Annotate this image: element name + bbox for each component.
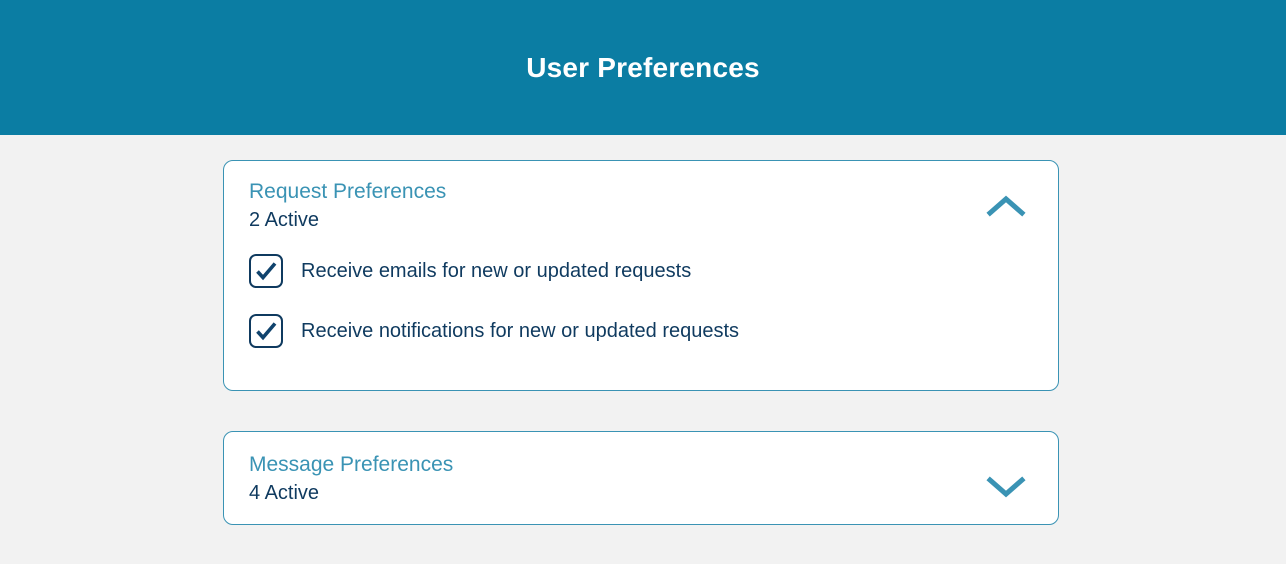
section-options-request: Receive emails for new or updated reques…: [224, 234, 1058, 354]
section-header-message[interactable]: Message Preferences 4 Active: [224, 432, 1058, 510]
app-header: User Preferences: [0, 0, 1286, 135]
preferences-section-request[interactable]: Request Preferences 2 Active: [223, 160, 1059, 391]
checkmark-icon: [254, 319, 278, 343]
checkmark-icon: [254, 259, 278, 283]
preferences-panel: Request Preferences 2 Active: [223, 160, 1059, 525]
checkbox-receive-emails[interactable]: [249, 254, 283, 288]
section-expand-toggle-message[interactable]: [984, 466, 1028, 510]
chevron-up-icon: [986, 192, 1026, 218]
option-label: Receive emails for new or updated reques…: [301, 257, 691, 285]
section-header-text: Request Preferences 2 Active: [249, 177, 446, 234]
section-collapse-toggle-request[interactable]: [984, 183, 1028, 227]
section-title: Message Preferences: [249, 450, 453, 479]
section-header-text: Message Preferences 4 Active: [249, 450, 453, 507]
option-label: Receive notifications for new or updated…: [301, 317, 739, 345]
section-active-count: 4 Active: [249, 479, 453, 507]
section-title: Request Preferences: [249, 177, 446, 206]
chevron-down-icon: [986, 475, 1026, 501]
preferences-section-message[interactable]: Message Preferences 4 Active: [223, 431, 1059, 525]
section-header-request[interactable]: Request Preferences 2 Active: [224, 161, 1058, 234]
option-row[interactable]: Receive notifications for new or updated…: [249, 308, 1058, 354]
main-content: Request Preferences 2 Active: [0, 135, 1286, 525]
section-active-count: 2 Active: [249, 206, 446, 234]
page-title: User Preferences: [526, 54, 760, 82]
checkbox-receive-notifications[interactable]: [249, 314, 283, 348]
option-row[interactable]: Receive emails for new or updated reques…: [249, 248, 1058, 294]
